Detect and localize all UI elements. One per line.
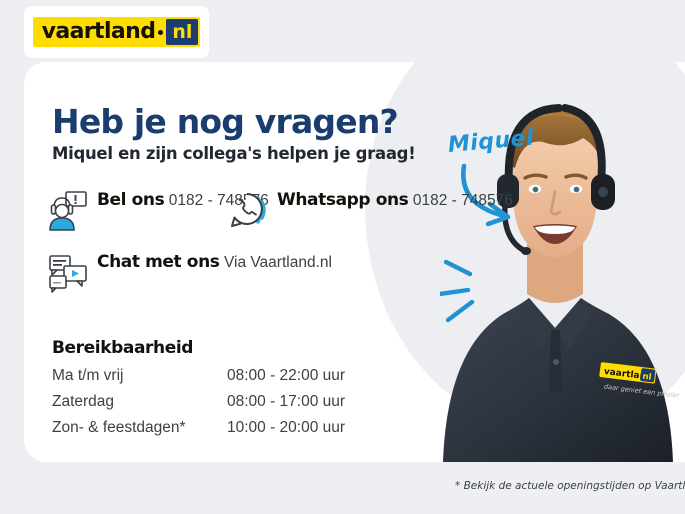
logo-dot-separator <box>158 30 163 35</box>
contact-call-title: Bel ons <box>97 190 164 210</box>
availability-hours: 08:00 - 22:00 uur <box>227 366 345 392</box>
logo-wordmark: vaartland <box>42 17 159 47</box>
table-row: Ma t/m vrij 08:00 - 22:00 uur <box>52 366 345 392</box>
logo-tld: nl <box>166 19 198 45</box>
contact-chat-title: Chat met ons <box>97 252 219 272</box>
contact-whatsapp-value: 0182 - 748576 <box>413 192 513 209</box>
svg-text:nl: nl <box>642 372 652 383</box>
contact-chat-value: Via Vaartland.nl <box>224 254 332 271</box>
page-title: Heb je nog vragen? <box>52 102 398 141</box>
whatsapp-icon <box>228 190 268 232</box>
chat-bubbles-icon <box>48 252 88 294</box>
motion-dashes-icon <box>440 250 500 325</box>
availability-hours: 10:00 - 20:00 uur <box>227 418 345 444</box>
table-row: Zon- & feestdagen* 10:00 - 20:00 uur <box>52 418 345 444</box>
contact-whatsapp-title: Whatsapp ons <box>277 190 408 210</box>
table-row: Zaterdag 08:00 - 17:00 uur <box>52 392 345 418</box>
promo-banner: vaartland nl <box>0 0 685 514</box>
brand-logo[interactable]: vaartland nl <box>24 6 209 58</box>
logo-badge: vaartland nl <box>33 17 201 47</box>
availability-table: Ma t/m vrij 08:00 - 22:00 uur Zaterdag 0… <box>52 366 345 444</box>
availability-day: Zon- & feestdagen* <box>52 418 227 444</box>
footnote: * Bekijk de actuele openingstijden op Va… <box>455 480 685 492</box>
availability-day: Ma t/m vrij <box>52 366 227 392</box>
availability-title: Bereikbaarheid <box>52 338 193 358</box>
contact-whatsapp[interactable]: Whatsapp ons 0182 - 748576 <box>228 190 513 232</box>
headset-person-icon <box>48 190 88 232</box>
contact-chat[interactable]: Chat met ons Via Vaartland.nl <box>48 252 332 294</box>
availability-day: Zaterdag <box>52 392 227 418</box>
availability-hours: 08:00 - 17:00 uur <box>227 392 345 418</box>
page-subtitle: Miquel en zijn collega's helpen je graag… <box>52 144 415 163</box>
